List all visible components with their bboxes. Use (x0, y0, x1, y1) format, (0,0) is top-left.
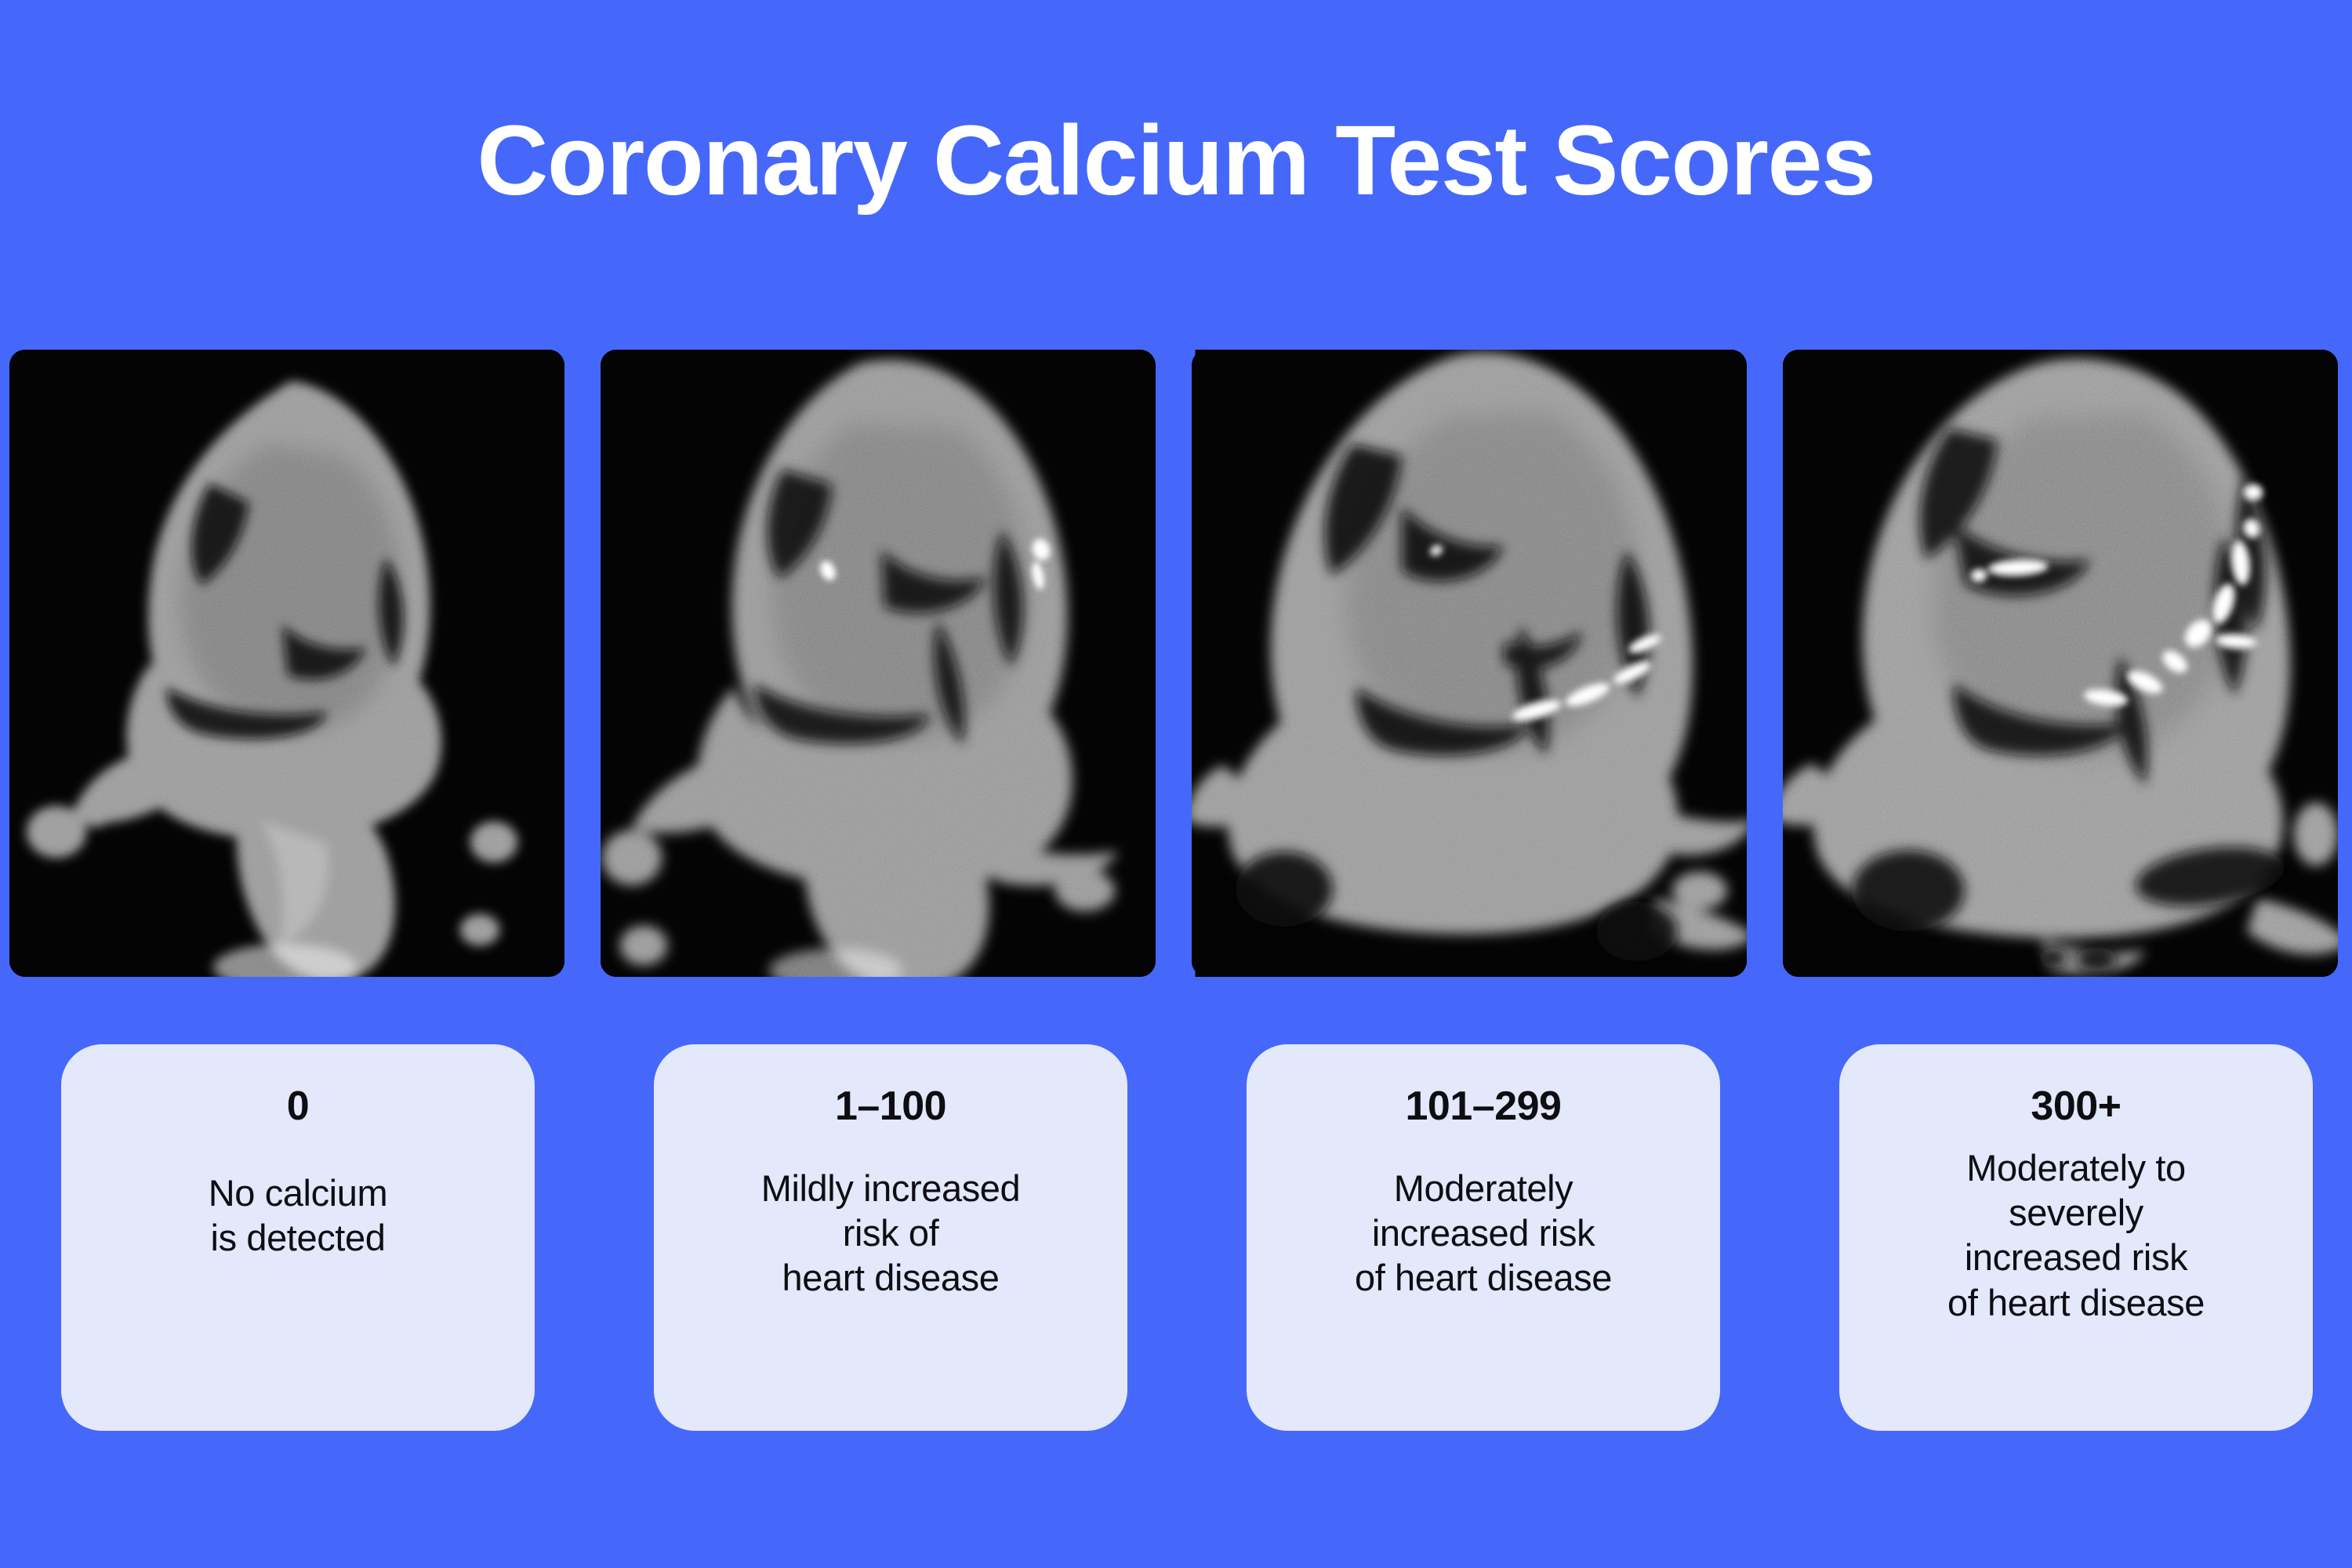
score-card-description: No calcium is detected (82, 1171, 514, 1261)
score-card-range: 300+ (1860, 1085, 2292, 1128)
score-card-range: 1–100 (674, 1085, 1107, 1128)
ct-scan-row (9, 350, 2343, 977)
ct-scan-panel-score-101-299 (1192, 350, 1747, 977)
score-card-range: 101–299 (1267, 1085, 1700, 1128)
ct-scan-panel-score-0 (9, 350, 564, 977)
ct-scan-panel-score-1-100 (601, 350, 1156, 977)
score-card-description: Mildly increased risk of heart disease (674, 1166, 1107, 1301)
score-card-300-plus[interactable]: 300+ Moderately to severely increased ri… (1839, 1044, 2313, 1431)
score-card-description: Moderately increased risk of heart disea… (1267, 1166, 1700, 1301)
score-card-description: Moderately to severely increased risk of… (1860, 1145, 2292, 1325)
ct-scan-image-score-101-299 (1192, 350, 1747, 977)
ct-scan-image-score-1-100 (601, 350, 1156, 977)
score-card-range: 0 (82, 1085, 514, 1128)
ct-scan-panel-score-300-plus (1783, 350, 2338, 977)
ct-scan-image-score-300-plus (1783, 350, 2338, 977)
score-card-row: 0 No calcium is detected 1–100 Mildly in… (61, 1044, 2291, 1431)
page-title: Coronary Calcium Test Scores (0, 111, 2352, 210)
score-card-101-299[interactable]: 101–299 Moderately increased risk of hea… (1247, 1044, 1720, 1431)
score-card-1-100[interactable]: 1–100 Mildly increased risk of heart dis… (654, 1044, 1127, 1431)
score-card-0[interactable]: 0 No calcium is detected (61, 1044, 535, 1431)
ct-scan-image-score-0 (9, 350, 564, 977)
